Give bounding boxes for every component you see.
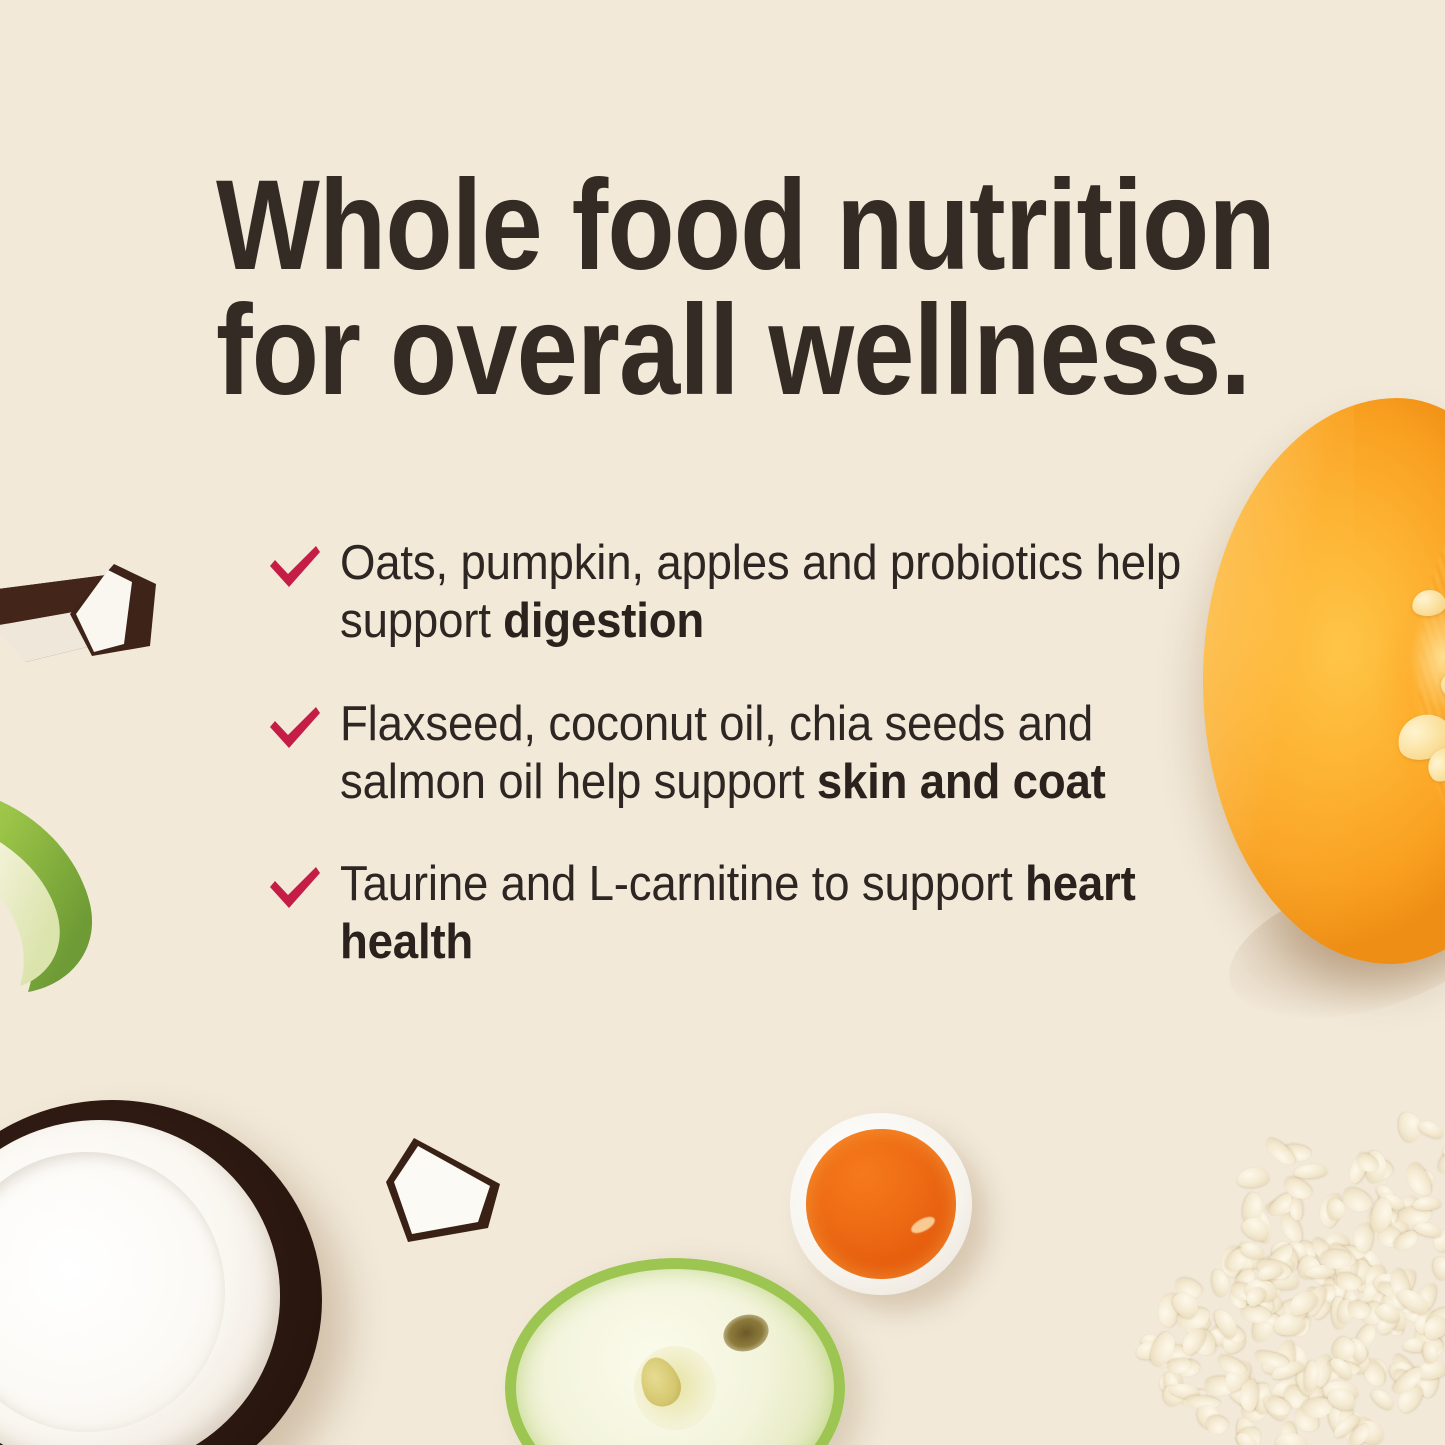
- pumpkin-flesh-edge: [1203, 398, 1354, 964]
- apple-skin: [505, 1258, 845, 1445]
- headline-line-2: for overall wellness.: [216, 288, 1145, 413]
- check-icon: [266, 865, 322, 911]
- oat-flake: [1294, 1162, 1328, 1178]
- list-item: Oats, pumpkin, apples and probiotics hel…: [262, 534, 1212, 651]
- oat-flake: [1204, 1414, 1229, 1436]
- benefit-text-regular: Taurine and L-carnitine to support: [340, 857, 1025, 911]
- oat-flake: [1431, 1254, 1445, 1281]
- pumpkin-half-photo: [1203, 398, 1445, 964]
- salmon-oil-bowl-photo: [790, 1113, 972, 1295]
- benefits-list: Oats, pumpkin, apples and probiotics hel…: [262, 534, 1212, 972]
- oat-flake: [1416, 1117, 1445, 1141]
- list-item: Taurine and L-carnitine to support heart…: [262, 855, 1212, 972]
- green-apple-half-photo: [505, 1258, 845, 1445]
- benefit-text-bold: skin and coat: [817, 755, 1106, 809]
- benefit-text: Flaxseed, coconut oil, chia seeds and sa…: [340, 695, 1216, 812]
- page-headline: Whole food nutrition for overall wellnes…: [216, 163, 1145, 414]
- oat-flake: [1236, 1166, 1270, 1189]
- coconut-chip-photo: [380, 1124, 526, 1250]
- green-apple-wedge-photo: [0, 772, 132, 994]
- coconut-half-photo: [0, 1100, 322, 1445]
- check-icon: [266, 705, 322, 751]
- product-benefits-banner: Whole food nutrition for overall wellnes…: [0, 0, 1445, 1445]
- rolled-oats-photo: [1125, 1096, 1445, 1445]
- benefit-text-regular: Oats, pumpkin, apples and probiotics hel…: [340, 536, 1181, 648]
- salmon-oil: [806, 1129, 955, 1278]
- benefit-text: Taurine and L-carnitine to support heart…: [340, 855, 1216, 972]
- benefit-text-bold: digestion: [503, 594, 704, 648]
- headline-line-1: Whole food nutrition: [216, 163, 1145, 288]
- oat-flake: [1328, 1198, 1346, 1220]
- check-icon: [266, 544, 322, 590]
- oat-flake: [1401, 1160, 1435, 1200]
- list-item: Flaxseed, coconut oil, chia seeds and sa…: [262, 695, 1212, 812]
- pumpkin-cavity: [1376, 489, 1445, 840]
- coconut-chip-photo: [62, 560, 158, 660]
- benefit-text: Oats, pumpkin, apples and probiotics hel…: [340, 534, 1216, 651]
